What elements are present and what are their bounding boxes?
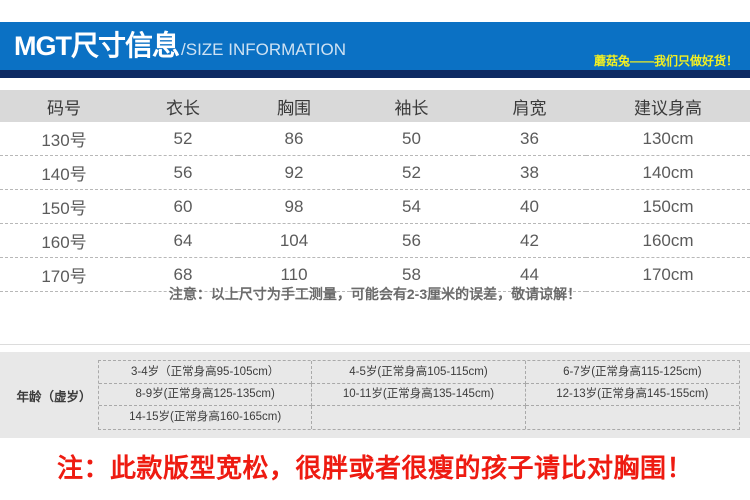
header-banner: MGT 尺寸信息 /SIZE INFORMATION 蘑菇兔——我们只做好货！ xyxy=(0,22,750,78)
size-table: 码号 衣长 胸围 袖长 肩宽 建议身高 130号 52 86 50 36 130… xyxy=(0,90,750,292)
age-cell-empty xyxy=(312,406,525,429)
banner-bar: MGT 尺寸信息 /SIZE INFORMATION 蘑菇兔——我们只做好货！ xyxy=(0,22,750,70)
cell-code: 130号 xyxy=(0,122,128,156)
age-grid: 3-4岁（正常身高95-105cm） 4-5岁(正常身高105-115cm) 6… xyxy=(98,360,740,430)
age-cell: 14-15岁(正常身高160-165cm) xyxy=(99,406,312,429)
brand-block: MGT 尺寸信息 /SIZE INFORMATION xyxy=(0,32,346,60)
cell-code: 150号 xyxy=(0,190,128,224)
cell-height: 160cm xyxy=(586,224,750,258)
age-table-label: 年龄（虚岁） xyxy=(10,360,98,430)
brand-title-en: /SIZE INFORMATION xyxy=(181,41,346,58)
cell-sleeve: 54 xyxy=(350,190,473,224)
brand-title-cn: 尺寸信息 xyxy=(71,32,179,60)
column-header-height: 建议身高 xyxy=(586,90,750,122)
age-cell: 10-11岁(正常身高135-145cm) xyxy=(312,384,525,407)
column-header-sleeve: 袖长 xyxy=(350,90,473,122)
cell-code: 140号 xyxy=(0,156,128,190)
cell-code: 160号 xyxy=(0,224,128,258)
column-header-code: 码号 xyxy=(0,90,128,122)
cell-bust: 92 xyxy=(238,156,350,190)
cell-length: 56 xyxy=(128,156,238,190)
column-header-shoulder: 肩宽 xyxy=(473,90,586,122)
table-row: 140号 56 92 52 38 140cm xyxy=(0,156,750,190)
cell-bust: 86 xyxy=(238,122,350,156)
column-header-bust: 胸围 xyxy=(238,90,350,122)
cell-height: 130cm xyxy=(586,122,750,156)
banner-underline xyxy=(0,70,750,78)
age-cell: 6-7岁(正常身高115-125cm) xyxy=(526,361,739,384)
cell-bust: 98 xyxy=(238,190,350,224)
cell-length: 52 xyxy=(128,122,238,156)
size-table-header-row: 码号 衣长 胸围 袖长 肩宽 建议身高 xyxy=(0,90,750,122)
age-cell: 3-4岁（正常身高95-105cm） xyxy=(99,361,312,384)
age-cell: 8-9岁(正常身高125-135cm) xyxy=(99,384,312,407)
cell-shoulder: 38 xyxy=(473,156,586,190)
cell-sleeve: 50 xyxy=(350,122,473,156)
brand-mgt-text: MGT xyxy=(14,33,71,60)
table-row: 150号 60 98 54 40 150cm xyxy=(0,190,750,224)
red-warning-notice: 注：此款版型宽松，很胖或者很瘦的孩子请比对胸围！ xyxy=(0,448,750,485)
cell-sleeve: 56 xyxy=(350,224,473,258)
cell-shoulder: 42 xyxy=(473,224,586,258)
table-row: 130号 52 86 50 36 130cm xyxy=(0,122,750,156)
age-table-block: 年龄（虚岁） 3-4岁（正常身高95-105cm） 4-5岁(正常身高105-1… xyxy=(0,352,750,438)
cell-length: 60 xyxy=(128,190,238,224)
brand-slogan: 蘑菇兔——我们只做好货！ xyxy=(594,55,738,67)
column-header-length: 衣长 xyxy=(128,90,238,122)
cell-length: 64 xyxy=(128,224,238,258)
age-cell: 4-5岁(正常身高105-115cm) xyxy=(312,361,525,384)
age-cell-empty xyxy=(526,406,739,429)
table-row: 160号 64 104 56 42 160cm xyxy=(0,224,750,258)
measurement-note: 注意：以上尺寸为手工测量，可能会有2-3厘米的误差，敬请谅解！ xyxy=(0,284,750,304)
cell-shoulder: 40 xyxy=(473,190,586,224)
cell-bust: 104 xyxy=(238,224,350,258)
age-cell: 12-13岁(正常身高145-155cm) xyxy=(526,384,739,407)
cell-shoulder: 36 xyxy=(473,122,586,156)
cell-sleeve: 52 xyxy=(350,156,473,190)
age-table-inner: 年龄（虚岁） 3-4岁（正常身高95-105cm） 4-5岁(正常身高105-1… xyxy=(10,360,740,430)
cell-height: 140cm xyxy=(586,156,750,190)
cell-height: 150cm xyxy=(586,190,750,224)
section-divider xyxy=(0,344,750,345)
